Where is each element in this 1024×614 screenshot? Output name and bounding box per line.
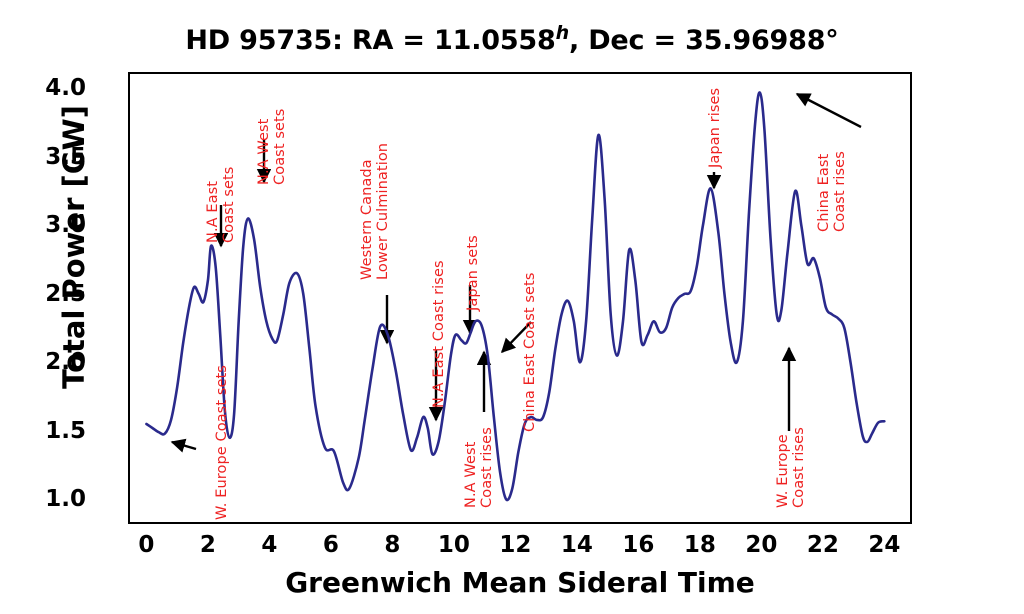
annotation-label-na-west-coast-sets: N.A WestCoast sets [256, 109, 288, 185]
annotation-line: Lower Culmination [375, 143, 391, 280]
annotation-arrow-china-east-coast-rises [797, 94, 861, 127]
annotation-label-na-east-coast-rises: N.A East Coast rises [431, 260, 447, 408]
annotation-line: N.A West [256, 109, 272, 185]
annotation-line: China East [816, 151, 832, 232]
annotation-line: Coast sets [221, 167, 237, 243]
annotation-label-western-canada-lower-culmination: Western CanadaLower Culmination [359, 143, 391, 280]
annotation-line: Japan rises [707, 88, 723, 168]
chart-canvas [0, 0, 1024, 614]
annotation-label-w-europe-coast-sets: W. Europe Coast sets [214, 365, 230, 520]
annotation-label-china-east-coast-rises: China EastCoast rises [816, 151, 848, 232]
annotation-label-na-east-coast-sets: N.A EastCoast sets [205, 167, 237, 243]
annotation-label-japan-rises: Japan rises [707, 88, 723, 168]
chart-figure: HD 95735: RA = 11.0558h, Dec = 35.96988°… [0, 0, 1024, 614]
annotation-line: China East Coast sets [522, 273, 538, 432]
annotation-label-na-west-coast-rises: N.A WestCoast rises [463, 427, 495, 508]
annotation-line: Coast rises [479, 427, 495, 508]
annotation-line: Coast sets [272, 109, 288, 185]
annotation-label-japan-sets: Japan sets [465, 235, 481, 311]
annotation-line: N.A West [463, 427, 479, 508]
annotation-line: Western Canada [359, 143, 375, 280]
annotation-line: Coast rises [791, 427, 807, 508]
x-axis-label: Greenwich Mean Sideral Time [110, 566, 930, 599]
annotation-line: N.A East Coast rises [431, 260, 447, 408]
annotation-label-w-europe-coast-rises: W. EuropeCoast rises [775, 427, 807, 508]
annotation-line: Coast rises [832, 151, 848, 232]
annotation-arrow-w-europe-coast-sets [172, 442, 196, 449]
annotation-label-china-east-coast-sets: China East Coast sets [522, 273, 538, 432]
annotation-line: W. Europe Coast sets [214, 365, 230, 520]
annotation-line: W. Europe [775, 427, 791, 508]
annotation-line: Japan sets [465, 235, 481, 311]
annotation-line: N.A East [205, 167, 221, 243]
